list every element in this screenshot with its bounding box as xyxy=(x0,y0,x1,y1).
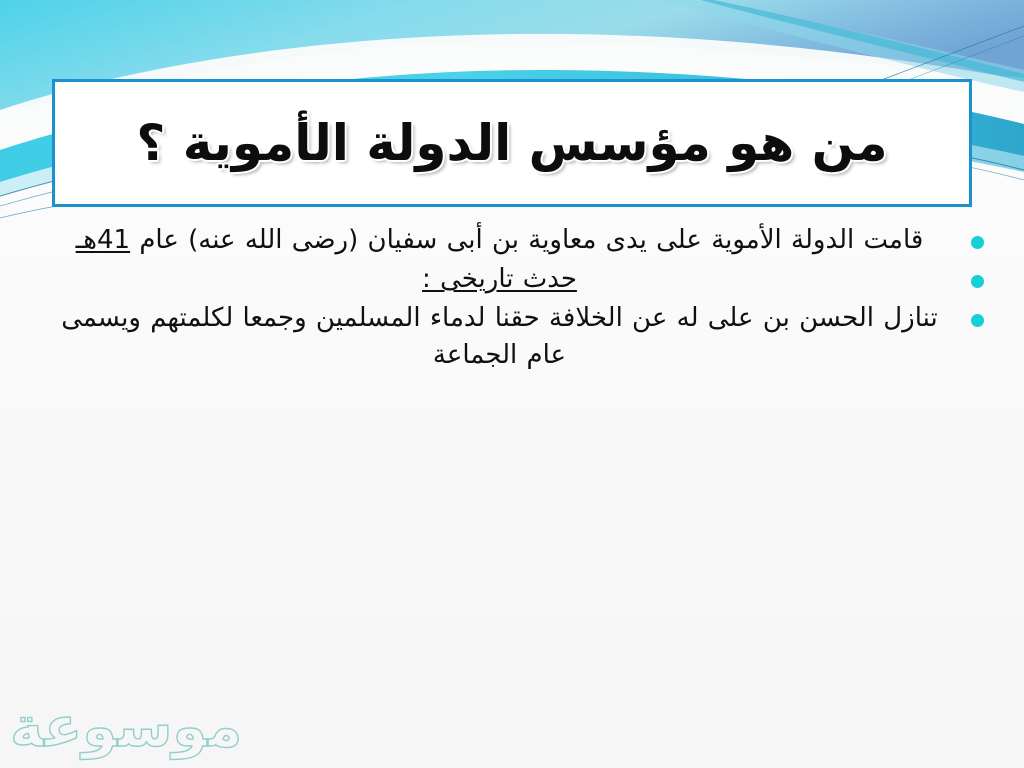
bullet-dot-icon xyxy=(971,236,984,249)
list-item: قامت الدولة الأموية على يدى معاوية بن أب… xyxy=(40,222,984,259)
bullet-3-line-1: تنازل الحسن بن على له عن الخلافة حقنا لد… xyxy=(150,303,938,333)
list-item: تنازل الحسن بن على له عن الخلافة حقنا لد… xyxy=(40,300,984,374)
bullet-1-text: قامت الدولة الأموية على يدى معاوية بن أب… xyxy=(40,222,959,259)
bullet-dot-icon xyxy=(971,314,984,327)
bullet-1-line-1: قامت الدولة الأموية على يدى معاوية بن أب… xyxy=(139,225,923,255)
bullet-3-text: تنازل الحسن بن على له عن الخلافة حقنا لد… xyxy=(40,300,959,374)
watermark-logo: موسوعة xyxy=(10,695,242,760)
slide-title-box: من هو مؤسس الدولة الأموية ؟ xyxy=(52,79,972,207)
page-title: من هو مؤسس الدولة الأموية ؟ xyxy=(55,115,969,171)
presentation-slide: من هو مؤسس الدولة الأموية ؟ قامت الدولة … xyxy=(0,0,1024,768)
bullet-dot-icon xyxy=(971,275,984,288)
list-item: حدث تاريخى : xyxy=(40,261,984,298)
bullet-2-line-1: حدث تاريخى : xyxy=(422,264,577,294)
bullet-2-text: حدث تاريخى : xyxy=(40,261,959,298)
slide-body: قامت الدولة الأموية على يدى معاوية بن أب… xyxy=(40,222,984,376)
bullet-1-line-2: 41هـ xyxy=(76,225,130,255)
